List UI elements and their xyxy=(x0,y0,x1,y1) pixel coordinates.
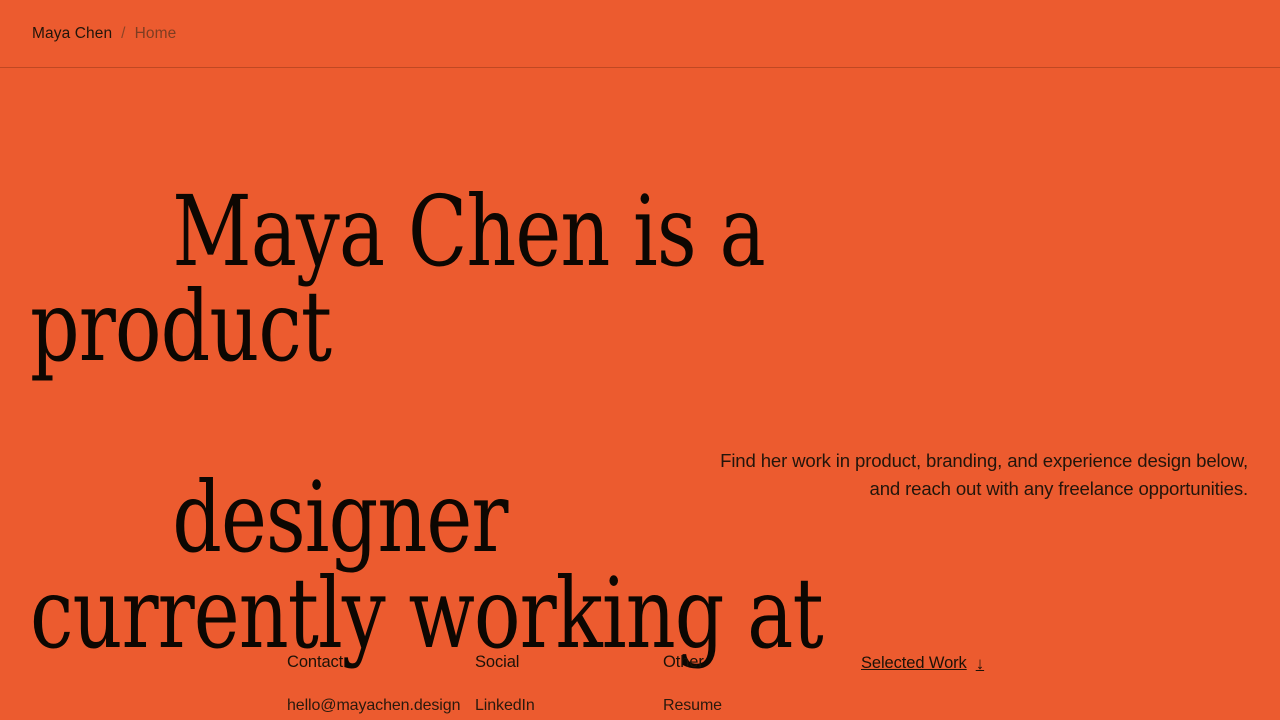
footer-column-title: Other xyxy=(663,653,851,672)
footer-link-list: Resume xyxy=(663,693,851,719)
breadcrumb-separator: / xyxy=(121,25,125,43)
headline-line-1: Maya Chen is a product xyxy=(30,175,789,384)
footer-link-list: LinkedIn xyxy=(475,693,663,719)
breadcrumb-current-page[interactable]: Home xyxy=(135,25,177,43)
footer-column-contact: Contact hello@mayachen.design xyxy=(287,653,475,719)
footer-link-email[interactable]: hello@mayachen.design xyxy=(287,693,475,719)
site-header: Maya Chen / Home xyxy=(0,0,1280,68)
footer-column-title: Contact xyxy=(287,653,475,672)
selected-work-link[interactable]: Selected Work ↓ xyxy=(861,654,984,673)
footer-column-title: Social xyxy=(475,653,663,672)
site-footer: Contact hello@mayachen.design Social Lin… xyxy=(0,640,1280,720)
footer-link-resume[interactable]: Resume xyxy=(663,693,851,719)
breadcrumb: Maya Chen / Home xyxy=(0,25,176,43)
selected-work-label: Selected Work xyxy=(861,654,967,673)
breadcrumb-root-link[interactable]: Maya Chen xyxy=(32,25,112,43)
arrow-down-icon: ↓ xyxy=(976,655,984,672)
footer-link-linkedin[interactable]: LinkedIn xyxy=(475,693,663,719)
page-title: Maya Chen is a product designer currentl… xyxy=(30,88,830,720)
footer-column-social: Social LinkedIn xyxy=(475,653,663,719)
footer-link-list: hello@mayachen.design xyxy=(287,693,475,719)
hero-section: Maya Chen is a product designer currentl… xyxy=(0,68,1280,720)
page-root: Maya Chen / Home Maya Chen is a product … xyxy=(0,0,1280,720)
intro-paragraph: Find her work in product, branding, and … xyxy=(703,447,1248,504)
footer-column-other: Other Resume xyxy=(663,653,851,719)
